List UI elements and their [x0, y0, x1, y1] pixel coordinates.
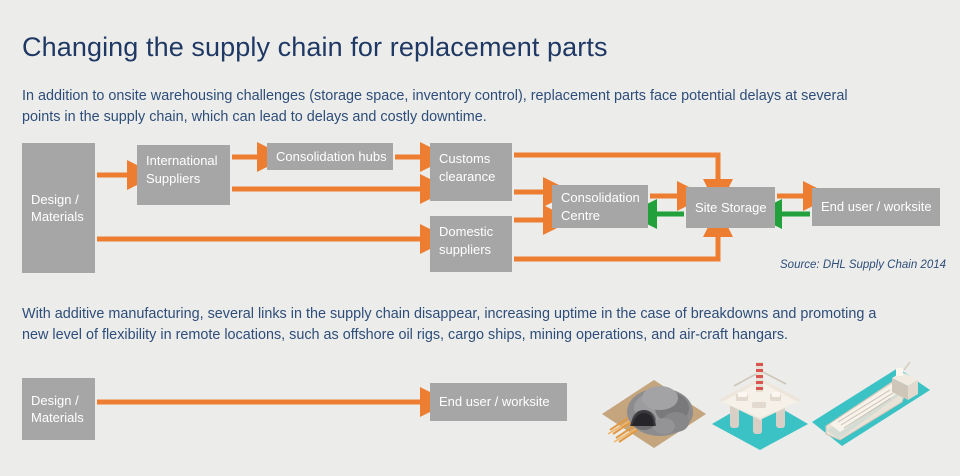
node-label: End user / worksite — [821, 198, 932, 216]
node-customs-clearance[interactable]: Customs clearance — [430, 143, 512, 201]
node-label: Customs clearance — [439, 150, 508, 185]
slide: Changing the supply chain for replacemen… — [0, 0, 960, 476]
node-end-user-worksite-2[interactable]: End user / worksite — [430, 383, 567, 421]
mining-operation-icon — [598, 368, 710, 452]
node-site-storage[interactable]: Site Storage — [686, 187, 775, 228]
node-label: Domestic suppliers — [439, 223, 508, 258]
node-label: Consolidation hubs — [276, 148, 387, 166]
node-domestic-suppliers[interactable]: Domestic suppliers — [430, 216, 512, 272]
node-label: Design / Materials — [31, 191, 91, 226]
node-international-suppliers[interactable]: International Suppliers — [137, 145, 230, 205]
node-consolidation-hubs[interactable]: Consolidation hubs — [267, 143, 393, 170]
node-design-materials-2[interactable]: Design / Materials — [22, 378, 95, 440]
node-design-materials[interactable]: Design / Materials — [22, 143, 95, 273]
node-label: Design / Materials — [31, 392, 91, 427]
node-label: Consolidation Centre — [561, 189, 644, 224]
node-end-user-worksite[interactable]: End user / worksite — [812, 188, 940, 226]
offshore-oil-rig-icon — [708, 360, 812, 454]
node-label: International Suppliers — [146, 152, 226, 187]
node-label: Site Storage — [695, 199, 767, 217]
cargo-ship-icon — [806, 360, 934, 454]
flow-customs-to-storage — [514, 155, 718, 180]
flow-domestic-to-storage — [514, 236, 718, 259]
node-label: End user / worksite — [439, 393, 550, 411]
node-consolidation-centre[interactable]: Consolidation Centre — [552, 185, 648, 228]
